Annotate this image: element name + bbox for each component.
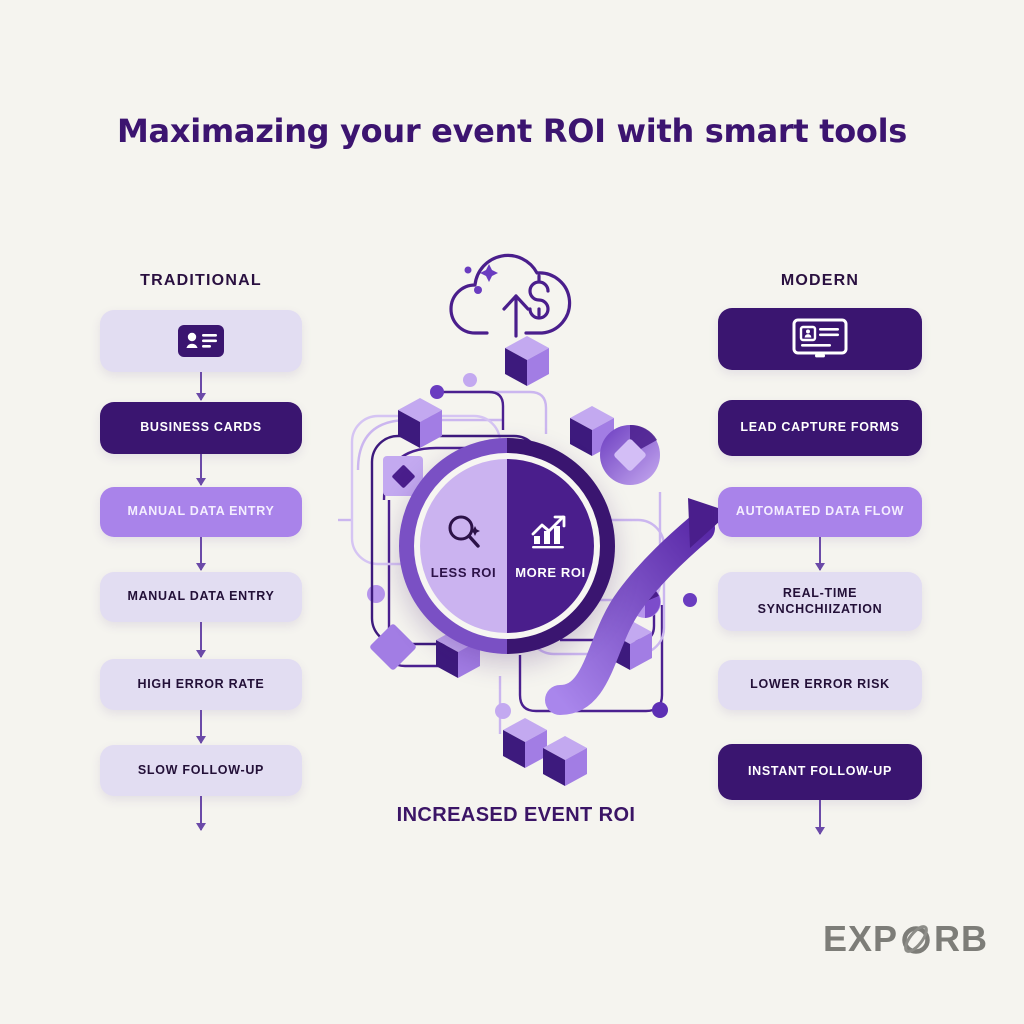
magnifier-icon <box>444 512 484 552</box>
connector-left-5 <box>200 710 202 743</box>
connector-left-1 <box>200 372 202 400</box>
orbit-o-icon <box>899 920 933 958</box>
logo-text-after: RB <box>934 918 988 960</box>
right-item-instant-follow-up[interactable]: INSTANT FOLLOW-UP <box>718 744 922 800</box>
logo-text-before: EXP <box>823 918 898 960</box>
connector-left-3 <box>200 537 202 570</box>
left-item-business-cards[interactable]: BUSINESS CARDS <box>100 402 302 454</box>
right-item-lead-capture-screen-icon-box[interactable] <box>718 308 922 370</box>
cloud-upload-dollar-icon <box>451 255 570 336</box>
connector-left-4 <box>200 622 202 657</box>
left-item-slow-follow-up[interactable]: SLOW FOLLOW-UP <box>100 745 302 796</box>
pie-decor-small <box>629 586 661 618</box>
cube-1 <box>505 336 549 386</box>
roi-half-more[interactable]: MORE ROI <box>507 459 594 633</box>
left-item-high-error-rate[interactable]: HIGH ERROR RATE <box>100 659 302 710</box>
left-item-manual-data-entry-2[interactable]: MANUAL DATA ENTRY <box>100 572 302 622</box>
column-header-traditional: TRADITIONAL <box>100 272 302 290</box>
right-item-lead-capture-forms[interactable]: LEAD CAPTURE FORMS <box>718 400 922 456</box>
growth-bar-chart-icon <box>530 512 572 552</box>
connector-left-2 <box>200 454 202 485</box>
roi-comparison-ring-inner: LESS ROI MORE ROI <box>414 453 600 639</box>
roi-half-more-label: MORE ROI <box>515 566 586 581</box>
connector-left-6 <box>200 796 202 830</box>
cube-4 <box>608 620 652 670</box>
right-item-real-time-sync[interactable]: REAL-TIME SYNCHCHIIZATION <box>718 572 922 631</box>
cube-3 <box>398 398 442 448</box>
business-card-icon <box>178 325 224 357</box>
right-item-lower-error-risk[interactable]: LOWER ERROR RISK <box>718 660 922 710</box>
roi-half-less[interactable]: LESS ROI <box>420 459 507 633</box>
brand-logo: EXP RB <box>823 918 988 960</box>
column-header-modern: MODERN <box>718 272 922 290</box>
increased-event-roi-label: INCREASED EVENT ROI <box>396 802 636 828</box>
pie-decor-large <box>600 425 660 485</box>
infographic-canvas: Maximazing your event ROI with smart too… <box>0 0 1024 1024</box>
roi-half-less-label: LESS ROI <box>431 566 496 581</box>
connector-right-6 <box>819 800 821 834</box>
cube-6 <box>543 736 587 786</box>
connector-right-3 <box>819 537 821 570</box>
sparkle-cluster <box>465 264 499 294</box>
cube-5 <box>503 718 547 768</box>
diamond-decor <box>369 623 417 671</box>
left-item-manual-data-entry-1[interactable]: MANUAL DATA ENTRY <box>100 487 302 537</box>
left-item-business-card-icon-box[interactable] <box>100 310 302 372</box>
lead-capture-screen-icon <box>792 318 848 360</box>
right-item-automated-data-flow[interactable]: AUTOMATED DATA FLOW <box>718 487 922 537</box>
cube-2 <box>570 406 614 456</box>
page-title: Maximazing your event ROI with smart too… <box>0 112 1024 150</box>
